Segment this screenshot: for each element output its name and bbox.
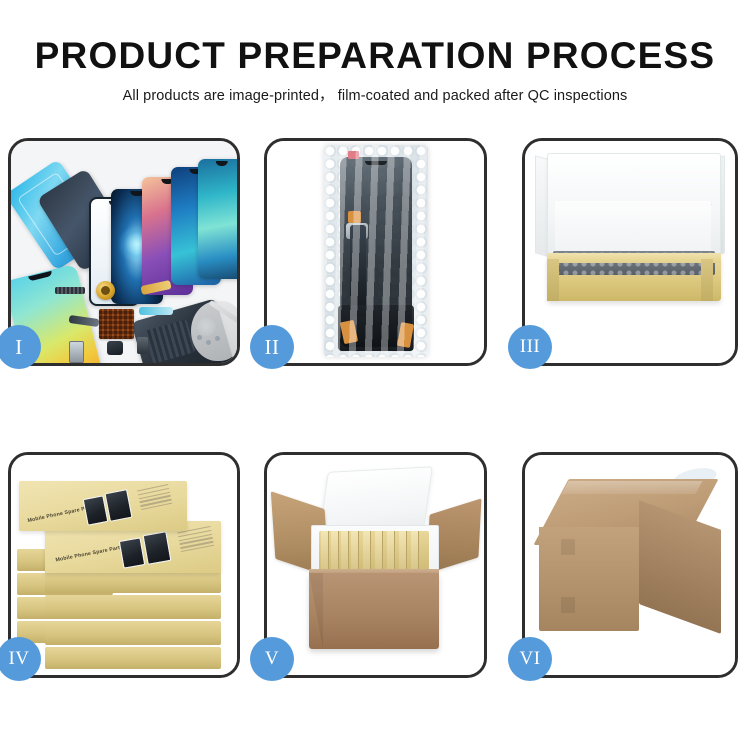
box-phone-image-top-a xyxy=(83,495,109,526)
speaker-coil-icon xyxy=(96,281,115,300)
step-panel-5[interactable]: V xyxy=(264,452,487,678)
sealed-carton-scene xyxy=(525,455,735,675)
step-image-5 xyxy=(267,455,484,675)
box-side-r4 xyxy=(45,647,221,669)
box-label-front: Mobile Phone Spare Parts xyxy=(55,544,124,563)
red-label-icon xyxy=(348,151,359,159)
connector-strip-icon xyxy=(55,287,85,294)
step-badge-3: III xyxy=(508,325,552,369)
open-tray-box-scene xyxy=(525,141,735,363)
carton-front-face-icon xyxy=(539,527,639,631)
step-image-1 xyxy=(11,141,237,363)
battery-icon xyxy=(137,337,148,354)
hand-icon xyxy=(191,301,237,361)
packing-tape-icon xyxy=(562,481,703,494)
open-carton-scene xyxy=(267,455,484,675)
box-lid-top: Mobile Phone Spare Parts xyxy=(19,481,187,531)
box-stack: Mobile Phone Spare Parts Mobile Phone Sp… xyxy=(17,477,229,663)
box-side-r2 xyxy=(45,595,221,619)
tape-patch-top-icon xyxy=(348,211,361,223)
box-text-lines-top xyxy=(137,484,173,513)
box-phone-image-front-a xyxy=(119,537,146,568)
parts-spread-scene xyxy=(11,141,237,363)
camera-module-icon xyxy=(107,341,123,355)
carton-tab-upper-icon xyxy=(561,539,575,555)
step-image-3 xyxy=(525,141,735,363)
product-preparation-infographic: PRODUCT PREPARATION PROCESS All products… xyxy=(0,0,750,750)
box-side-r3 xyxy=(45,621,221,645)
steps-grid: I II xyxy=(0,0,750,750)
earpiece-speaker-icon xyxy=(69,341,84,363)
carton-side-face-icon xyxy=(639,500,721,634)
copper-shield-icon xyxy=(99,309,134,339)
step-badge-5: V xyxy=(250,637,294,681)
box-phone-image-top-b xyxy=(104,489,132,522)
step-panel-3[interactable]: III xyxy=(522,138,738,366)
carton-shadow-icon xyxy=(309,573,323,649)
carton-body-icon xyxy=(309,573,439,649)
step-panel-2[interactable]: II xyxy=(264,138,487,366)
tray-lip-icon xyxy=(547,253,721,263)
step-panel-4[interactable]: Mobile Phone Spare Parts Mobile Phone Sp… xyxy=(8,452,240,678)
phone-screen-gradient-icon xyxy=(198,159,237,279)
tray-edge-right-icon xyxy=(701,259,713,301)
lcd-flex-cable-icon xyxy=(350,225,366,317)
step-badge-6: VI xyxy=(508,637,552,681)
step-image-6 xyxy=(525,455,735,675)
bubble-wrap-bag-icon xyxy=(324,145,428,357)
step-image-2 xyxy=(267,141,484,363)
bubble-wrap-scene xyxy=(267,141,484,363)
tray-edge-left-icon xyxy=(547,259,559,301)
stacked-boxes-scene: Mobile Phone Spare Parts Mobile Phone Sp… xyxy=(11,455,237,675)
step-panel-1[interactable]: I xyxy=(8,138,240,366)
screws-icon xyxy=(197,335,223,347)
step-image-4: Mobile Phone Spare Parts Mobile Phone Sp… xyxy=(11,455,237,675)
box-phone-image-front-b xyxy=(143,531,172,565)
carton-tab-lower-icon xyxy=(561,597,575,613)
step-panel-6[interactable]: VI xyxy=(522,452,738,678)
flex-cable-blue-icon xyxy=(139,307,173,315)
step-badge-2: II xyxy=(250,325,294,369)
